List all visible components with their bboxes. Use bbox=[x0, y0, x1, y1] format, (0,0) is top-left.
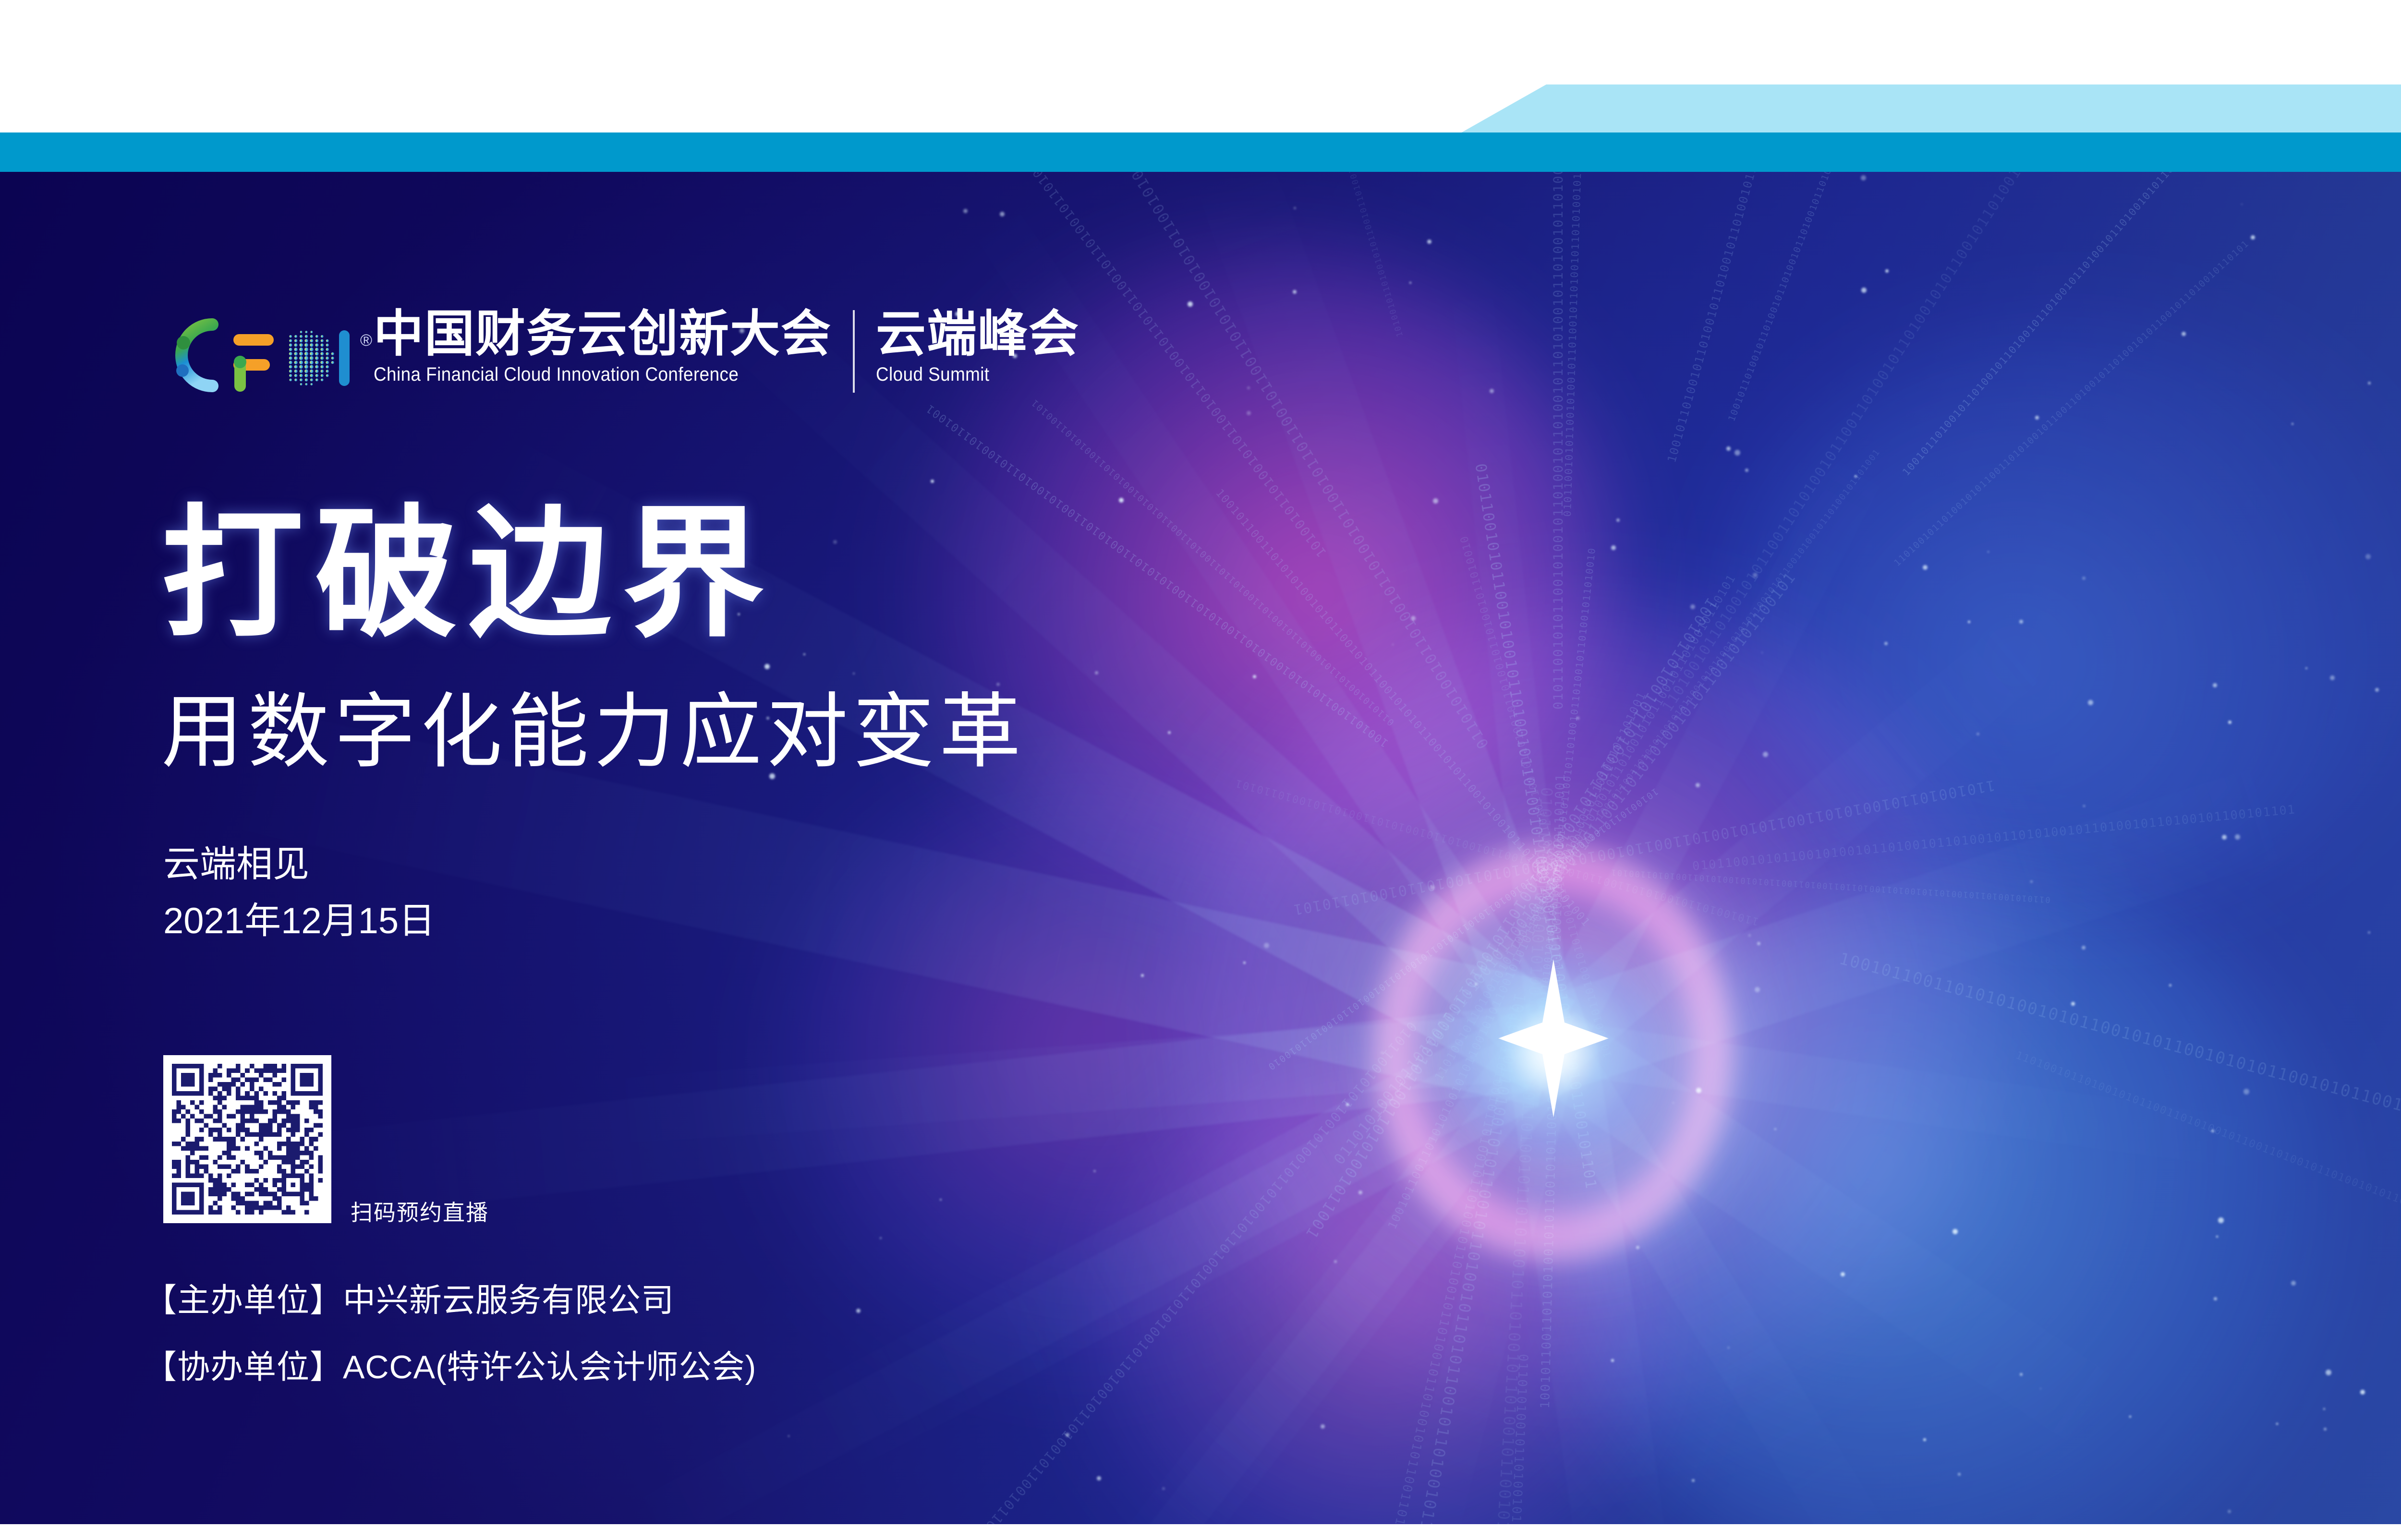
organizer-label: 【协办单位】 bbox=[144, 1349, 343, 1385]
logo-title-cn: 中国财务云创新大会 bbox=[374, 307, 832, 361]
meeting-date: 2021年12月15日 bbox=[163, 893, 435, 950]
poster-headline: 打破边界 bbox=[161, 503, 776, 645]
logo-primary-title: 中国财务云创新大会 China Financial Cloud Innovati… bbox=[374, 307, 832, 385]
logo-text-lockup: 中国财务云创新大会 China Financial Cloud Innovati… bbox=[374, 307, 1079, 393]
logo-subtitle-cn: 云端峰会 bbox=[876, 307, 1079, 361]
qr-code-block[interactable] bbox=[163, 1055, 331, 1223]
logo-title-en: China Financial Cloud Innovation Confere… bbox=[374, 364, 795, 385]
organizer-name: ACCA(特许公认会计师公会) bbox=[343, 1349, 756, 1385]
organizer-row: 【协办单位】ACCA(特许公认会计师公会) bbox=[144, 1334, 756, 1401]
registered-mark: ® bbox=[360, 331, 372, 350]
logo-divider bbox=[853, 310, 855, 393]
qr-caption: 扫码预约直播 bbox=[351, 1195, 489, 1227]
organizer-list: 【主办单位】中兴新云服务有限公司 【协办单位】ACCA(特许公认会计师公会) bbox=[144, 1267, 756, 1401]
organizer-label: 【主办单位】 bbox=[144, 1282, 343, 1319]
cfci-logo: ® 中国财务云创新大会 China Financial Cloud Innova… bbox=[162, 307, 1079, 403]
poster-subheadline: 用数字化能力应对变革 bbox=[161, 691, 1026, 773]
organizer-name: 中兴新云服务有限公司 bbox=[343, 1282, 674, 1319]
logo-secondary-title: 云端峰会 Cloud Summit bbox=[876, 307, 1079, 385]
qr-code-icon[interactable] bbox=[163, 1055, 331, 1223]
cfci-logo-mark-icon: ® bbox=[162, 307, 354, 403]
poster-content: ® 中国财务云创新大会 China Financial Cloud Innova… bbox=[0, 0, 2401, 1540]
conference-poster: 1001011001101010100101011001010110010101… bbox=[0, 0, 2401, 1540]
logo-subtitle-en: Cloud Summit bbox=[876, 364, 1063, 385]
organizer-row: 【主办单位】中兴新云服务有限公司 bbox=[144, 1267, 756, 1334]
meeting-info: 云端相见 2021年12月15日 bbox=[163, 836, 435, 950]
meeting-venue: 云端相见 bbox=[163, 836, 435, 893]
